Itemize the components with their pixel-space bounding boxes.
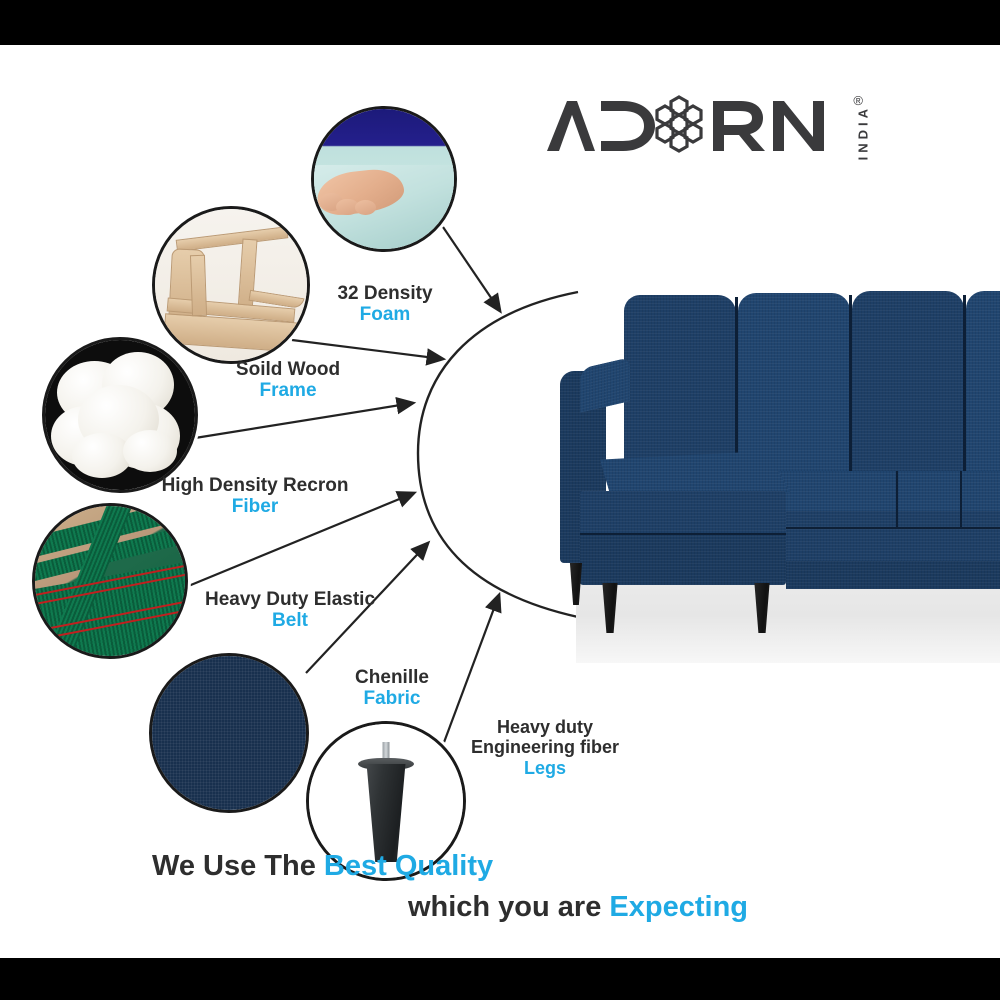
feature-label-belt: Heavy Duty Elastic Belt <box>180 589 400 632</box>
infographic-canvas: INDIA ® <box>0 45 1000 958</box>
foam-thumbnail <box>311 106 457 252</box>
tagline: We Use The Best Quality which you are Ex… <box>120 850 800 924</box>
feature-title-foam: 32 Density <box>300 283 470 304</box>
fabric-swatch-thumbnail <box>149 653 309 813</box>
feature-title-wood: Soild Wood <box>188 359 388 380</box>
feature-label-wood: Soild Wood Frame <box>188 359 388 402</box>
feature-label-legs: Heavy duty Engineering fiber Legs <box>440 717 650 778</box>
feature-label-foam: 32 Density Foam <box>300 283 470 326</box>
feature-label-fiber: High Density Recron Fiber <box>140 475 370 518</box>
feature-accent-wood: Frame <box>188 380 388 401</box>
feature-title-legs-line2: Engineering fiber <box>440 737 650 757</box>
sofa-leg-front-left <box>600 583 620 633</box>
tagline-accent-2: Expecting <box>609 891 748 923</box>
logo-wordmark <box>545 95 845 157</box>
feature-title-legs-line1: Heavy duty <box>440 717 650 737</box>
brand-logo: INDIA ® <box>545 87 865 177</box>
feature-title-fiber: High Density Recron <box>140 475 370 496</box>
letterbox-top <box>0 0 1000 45</box>
tagline-plain-1: We Use The <box>152 850 324 882</box>
feature-accent-belt: Belt <box>180 610 400 631</box>
feature-label-fabric: Chenille Fabric <box>312 667 472 710</box>
logo-india-text: INDIA <box>855 105 870 160</box>
sofa-leg-front-right <box>752 583 772 633</box>
sectional-sofa-image <box>556 275 1000 665</box>
recron-fiber-thumbnail <box>42 337 198 493</box>
letterbox-bottom <box>0 958 1000 1000</box>
logo-registered-icon: ® <box>853 93 863 108</box>
arrow-wood <box>292 340 443 359</box>
arrow-fiber <box>195 403 413 438</box>
feature-accent-fabric: Fabric <box>312 688 472 709</box>
tagline-line-1: We Use The Best Quality <box>120 850 800 883</box>
feature-accent-foam: Foam <box>300 304 470 325</box>
infographic-stage: INDIA ® <box>0 0 1000 1000</box>
feature-accent-fiber: Fiber <box>140 496 370 517</box>
elastic-belt-thumbnail <box>32 503 188 659</box>
feature-title-belt: Heavy Duty Elastic <box>180 589 400 610</box>
tagline-line-2: which you are Expecting <box>120 891 800 924</box>
convergence-arc <box>418 292 578 617</box>
adorn-logo-icon <box>545 95 845 157</box>
tagline-accent-1: Best Quality <box>324 850 493 882</box>
feature-title-fabric: Chenille <box>312 667 472 688</box>
feature-accent-legs: Legs <box>440 758 650 778</box>
tagline-plain-2: which you are <box>408 891 609 923</box>
